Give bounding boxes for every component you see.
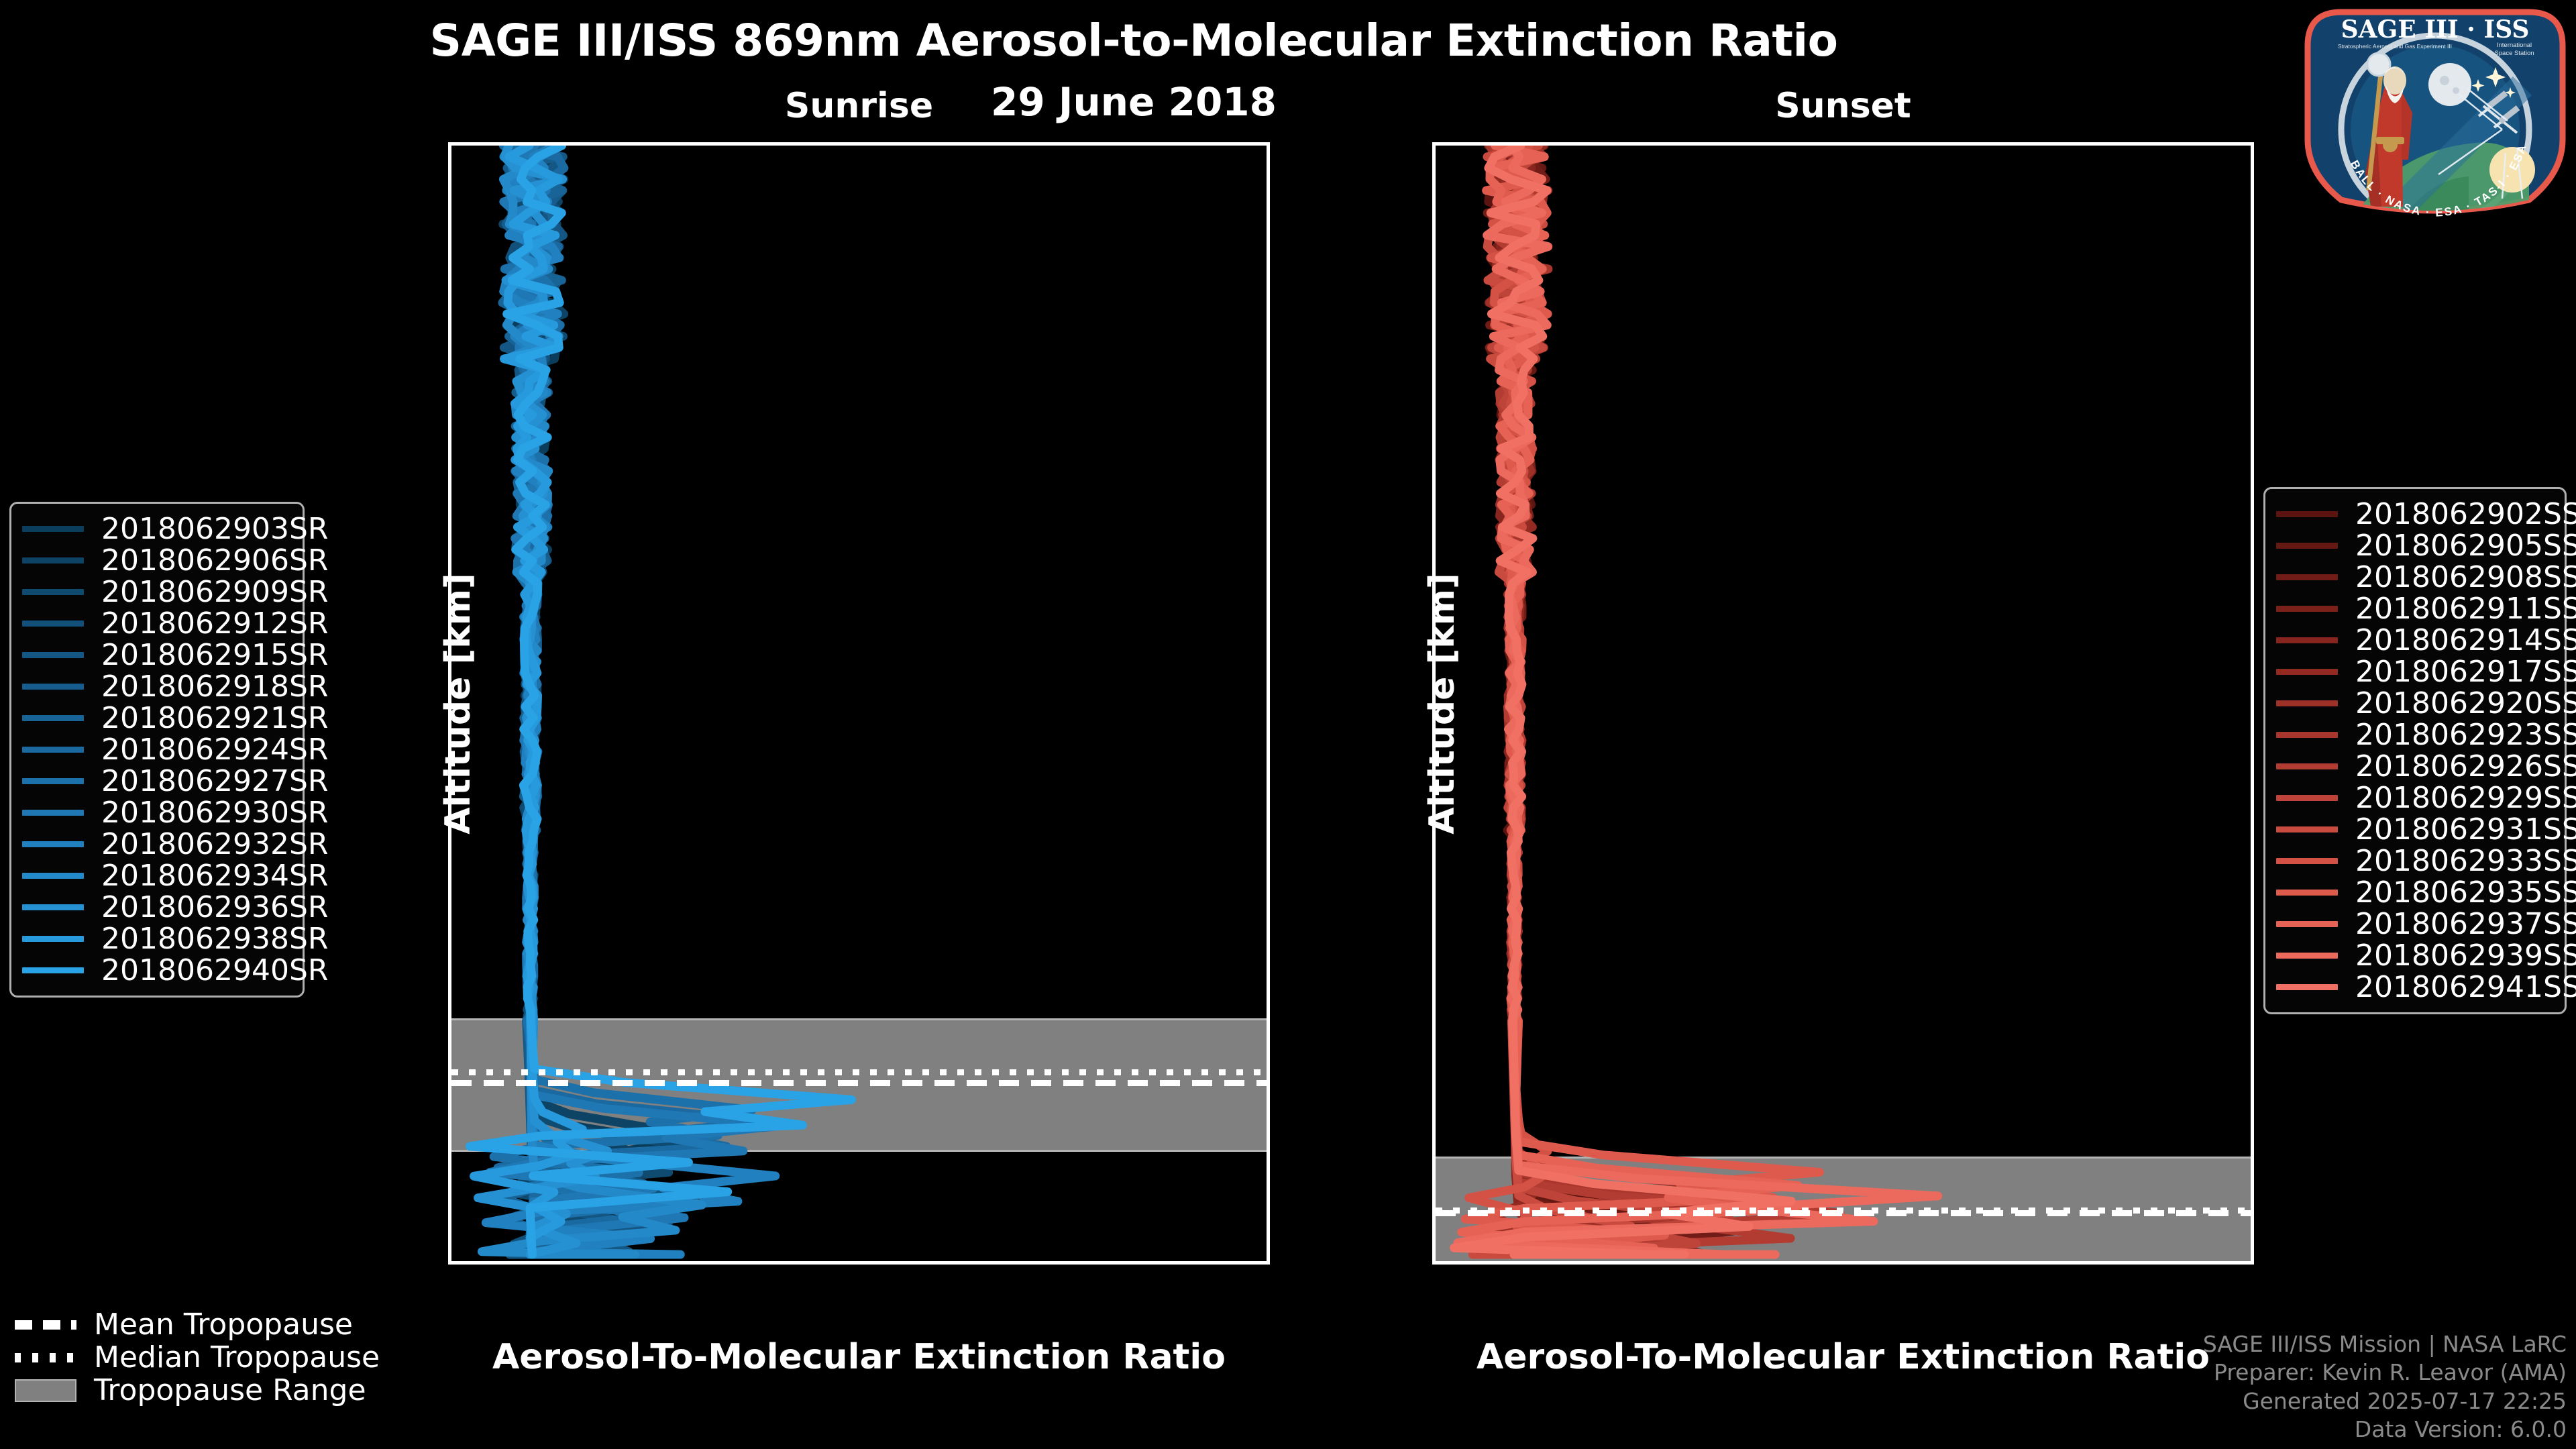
legend-item-label: 2018062906SR: [101, 543, 328, 578]
legend-color-swatch: [2276, 606, 2338, 612]
legend-item-label: 2018062914SS: [2355, 623, 2576, 657]
x-axis-tick-mark: [1509, 1263, 1511, 1265]
y-axis-tick-mark: [448, 1218, 450, 1221]
legend-item[interactable]: 2018062938SR: [22, 923, 292, 955]
y-axis-tick-mark: [448, 950, 450, 953]
x-axis-tick-mark: [525, 1263, 527, 1265]
legend-color-swatch: [22, 904, 84, 910]
y-axis-tick-mark: [1432, 1218, 1434, 1221]
legend-item-label: 2018062936SR: [101, 890, 328, 924]
legend-item-label: 2018062929SS: [2355, 781, 2576, 815]
legend-color-swatch: [22, 589, 84, 595]
legend-item-label: 2018062939SS: [2355, 938, 2576, 973]
y-axis-tick-mark: [1432, 547, 1434, 549]
legend-item[interactable]: 2018062909SR: [22, 576, 292, 608]
legend-item[interactable]: 2018062935SS: [2276, 877, 2554, 908]
legend-color-swatch: [2276, 637, 2338, 643]
right-data-curves: [1436, 146, 2251, 1261]
legend-item-label: 2018062917SS: [2355, 655, 2576, 689]
left-data-curves: [451, 146, 1267, 1261]
patch-subtitle-right-2: Space Station: [2494, 50, 2534, 57]
legend-item-label: 2018062938SR: [101, 922, 328, 956]
legend-item-label: 2018062934SR: [101, 859, 328, 893]
legend-item-label: 2018062931SS: [2355, 812, 2576, 847]
y-axis-tick-mark: [1432, 1084, 1434, 1087]
legend-item[interactable]: 2018062911SS: [2276, 593, 2554, 625]
tropopause-legend-label: Mean Tropopause: [94, 1307, 353, 1342]
sage-buckle: [2383, 138, 2398, 152]
legend-item-label: 2018062923SS: [2355, 718, 2576, 752]
legend-item[interactable]: 2018062915SR: [22, 639, 292, 671]
x-axis-tick-mark: [1658, 1263, 1661, 1265]
y-axis-tick-mark: [448, 547, 450, 549]
tropopause-legend-item: Median Tropopause: [15, 1341, 380, 1374]
legend-item-label: 2018062935SS: [2355, 875, 2576, 910]
legend-item-label: 2018062902SS: [2355, 497, 2576, 531]
legend-item-label: 2018062909SR: [101, 575, 328, 609]
tropopause-legend: Mean TropopauseMedian TropopauseTropopau…: [15, 1308, 380, 1407]
legend-item[interactable]: 2018062917SS: [2276, 656, 2554, 688]
legend-item[interactable]: 2018062937SS: [2276, 908, 2554, 940]
sunrise-plot-axes: 101520253035404550020406080100: [448, 142, 1270, 1265]
median-tropopause-line: [1436, 1207, 2251, 1214]
page-title: SAGE III/ISS 869nm Aerosol-to-Molecular …: [0, 15, 2267, 66]
legend-color-swatch: [2276, 543, 2338, 549]
legend-color-swatch: [22, 967, 84, 973]
y-axis-tick-mark: [448, 144, 450, 147]
sunrise-y-axis-label: Altitude [km]: [438, 573, 478, 835]
legend-item[interactable]: 2018062931SS: [2276, 814, 2554, 845]
footer-line-generated: Generated 2025-07-17 22:25: [2203, 1387, 2567, 1415]
legend-item[interactable]: 2018062927SR: [22, 765, 292, 797]
legend-item[interactable]: 2018062932SR: [22, 828, 292, 860]
legend-color-swatch: [22, 747, 84, 753]
legend-item[interactable]: 2018062936SR: [22, 892, 292, 923]
legend-item-label: 2018062903SR: [101, 512, 328, 546]
legend-item[interactable]: 2018062921SR: [22, 702, 292, 734]
legend-item-label: 2018062921SR: [101, 701, 328, 735]
legend-item[interactable]: 2018062940SR: [22, 955, 292, 986]
legend-item[interactable]: 2018062923SS: [2276, 719, 2554, 751]
legend-item-label: 2018062933SS: [2355, 844, 2576, 878]
legend-item[interactable]: 2018062914SS: [2276, 625, 2554, 656]
footer-line-preparer: Preparer: Kevin R. Leavor (AMA): [2203, 1358, 2567, 1387]
legend-color-swatch: [22, 621, 84, 627]
moon-crater-2: [2453, 87, 2459, 94]
sunrise-event-legend[interactable]: 2018062903SR2018062906SR2018062909SR2018…: [9, 502, 305, 998]
legend-item-label: 2018062926SS: [2355, 749, 2576, 784]
median-tropopause-line: [451, 1069, 1267, 1075]
patch-subtitle-left: Stratospheric Aerosol and Gas Experiment…: [2338, 43, 2452, 50]
legend-color-swatch: [22, 810, 84, 816]
legend-color-swatch: [22, 526, 84, 532]
legend-item-label: 2018062908SS: [2355, 560, 2576, 594]
legend-item[interactable]: 2018062908SS: [2276, 561, 2554, 593]
footer-metadata: SAGE III/ISS Mission | NASA LaRC Prepare…: [2203, 1330, 2567, 1444]
sunset-y-axis-label: Altitude [km]: [1422, 573, 1462, 835]
legend-color-swatch: [2276, 953, 2338, 959]
legend-item-label: 2018062905SS: [2355, 529, 2576, 563]
legend-color-swatch: [2276, 858, 2338, 864]
legend-color-swatch: [22, 841, 84, 847]
legend-item[interactable]: 2018062930SR: [22, 797, 292, 828]
mean-tropopause-line: [451, 1080, 1267, 1086]
legend-item-label: 2018062915SR: [101, 638, 328, 672]
legend-item[interactable]: 2018062934SR: [22, 860, 292, 892]
sunset-plot-axes: 101520253035404550020406080100: [1432, 142, 2254, 1265]
dotted-line-swatch: [15, 1353, 76, 1362]
legend-item-label: 2018062911SS: [2355, 592, 2576, 626]
legend-item-label: 2018062940SR: [101, 953, 328, 987]
legend-item[interactable]: 2018062902SS: [2276, 498, 2554, 530]
x-axis-tick-mark: [1122, 1263, 1125, 1265]
legend-item[interactable]: 2018062918SR: [22, 671, 292, 702]
tropopause-range-swatch: [15, 1379, 76, 1402]
legend-color-swatch: [2276, 826, 2338, 833]
legend-item[interactable]: 2018062939SS: [2276, 940, 2554, 971]
patch-title: SAGE III · ISS: [2341, 15, 2530, 44]
y-axis-tick-mark: [448, 1084, 450, 1087]
mission-patch-svg: SAGE III · ISS Stratospheric Aerosol and…: [2301, 5, 2569, 221]
patch-subtitle-right-1: International: [2497, 42, 2532, 49]
x-axis-tick-mark: [674, 1263, 677, 1265]
legend-item[interactable]: 2018062920SS: [2276, 688, 2554, 719]
data-series-line: [1458, 146, 1938, 1254]
legend-color-swatch: [2276, 732, 2338, 738]
legend-color-swatch: [22, 936, 84, 942]
legend-color-swatch: [22, 652, 84, 658]
sunset-panel-title: Sunset: [1432, 86, 2254, 126]
y-axis-tick-mark: [448, 278, 450, 281]
legend-item[interactable]: 2018062905SS: [2276, 530, 2554, 561]
legend-color-swatch: [2276, 511, 2338, 517]
legend-item-label: 2018062927SR: [101, 764, 328, 798]
tropopause-legend-label: Median Tropopause: [94, 1340, 380, 1375]
y-axis-tick-mark: [448, 413, 450, 415]
legend-color-swatch: [22, 557, 84, 563]
legend-color-swatch: [2276, 669, 2338, 675]
tropopause-legend-item: Mean Tropopause: [15, 1308, 380, 1341]
x-axis-tick-mark: [2106, 1263, 2109, 1265]
legend-item[interactable]: 2018062941SS: [2276, 971, 2554, 1003]
legend-color-swatch: [2276, 984, 2338, 990]
legend-color-swatch: [2276, 700, 2338, 706]
sunrise-x-axis-label: Aerosol-To-Molecular Extinction Ratio: [448, 1337, 1270, 1377]
legend-item[interactable]: 2018062924SR: [22, 734, 292, 765]
x-axis-tick-mark: [973, 1263, 976, 1265]
legend-color-swatch: [22, 684, 84, 690]
y-axis-tick-mark: [1432, 413, 1434, 415]
legend-item[interactable]: 2018062933SS: [2276, 845, 2554, 877]
footer-line-dataversion: Data Version: 6.0.0: [2203, 1415, 2567, 1444]
legend-item-label: 2018062912SR: [101, 606, 328, 641]
y-axis-tick-mark: [1432, 950, 1434, 953]
legend-item-label: 2018062920SS: [2355, 686, 2576, 720]
x-axis-tick-mark: [1957, 1263, 1960, 1265]
legend-color-swatch: [2276, 795, 2338, 801]
legend-color-swatch: [2276, 890, 2338, 896]
legend-item-label: 2018062937SS: [2355, 907, 2576, 941]
legend-color-swatch: [2276, 763, 2338, 769]
moon-crater: [2440, 76, 2449, 85]
legend-color-swatch: [2276, 921, 2338, 927]
legend-item-label: 2018062941SS: [2355, 970, 2576, 1004]
y-axis-tick-mark: [1432, 144, 1434, 147]
dashed-line-swatch: [15, 1320, 76, 1330]
legend-item[interactable]: 2018062906SR: [22, 545, 292, 576]
legend-color-swatch: [2276, 574, 2338, 580]
sage-iii-iss-mission-patch-logo: SAGE III · ISS Stratospheric Aerosol and…: [2301, 5, 2569, 221]
footer-line-mission: SAGE III/ISS Mission | NASA LaRC: [2203, 1330, 2567, 1358]
legend-item[interactable]: 2018062912SR: [22, 608, 292, 639]
legend-item[interactable]: 2018062929SS: [2276, 782, 2554, 814]
legend-item-label: 2018062924SR: [101, 733, 328, 767]
tropopause-legend-item: Tropopause Range: [15, 1374, 380, 1407]
y-axis-tick-mark: [1432, 278, 1434, 281]
x-axis-tick-mark: [1808, 1263, 1811, 1265]
x-axis-tick-mark: [824, 1263, 826, 1265]
legend-item[interactable]: 2018062926SS: [2276, 751, 2554, 782]
legend-item[interactable]: 2018062903SR: [22, 513, 292, 545]
sunset-event-legend[interactable]: 2018062902SS2018062905SS2018062908SS2018…: [2263, 487, 2567, 1014]
tropopause-legend-label: Tropopause Range: [94, 1373, 366, 1407]
legend-color-swatch: [22, 873, 84, 879]
legend-item-label: 2018062918SR: [101, 669, 328, 704]
legend-color-swatch: [22, 715, 84, 721]
sunrise-panel-title: Sunrise: [448, 86, 1270, 126]
legend-item-label: 2018062932SR: [101, 827, 328, 861]
sunset-x-axis-label: Aerosol-To-Molecular Extinction Ratio: [1432, 1337, 2254, 1377]
legend-item-label: 2018062930SR: [101, 796, 328, 830]
legend-color-swatch: [22, 778, 84, 784]
